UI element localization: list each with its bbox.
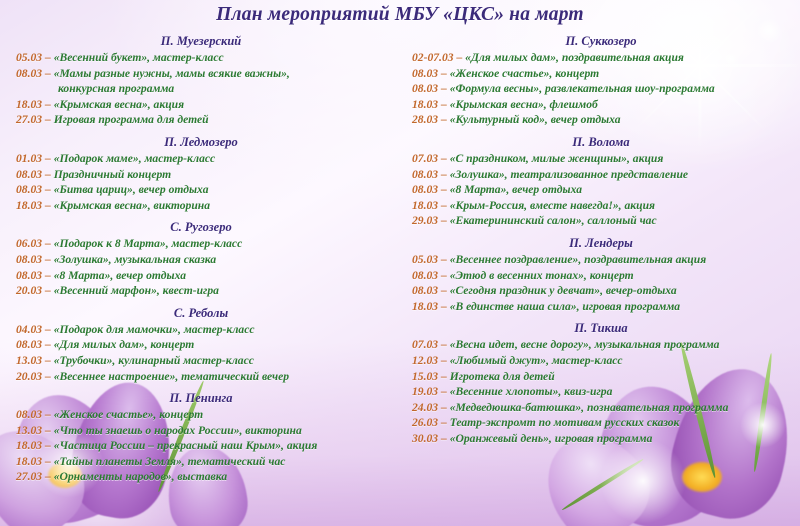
event-description: «Золушка», музыкальная сказка (54, 253, 216, 266)
event-description: «Весенний букет», мастер-класс (54, 51, 224, 64)
event-description: «Женское счастье», концерт (450, 67, 599, 80)
event-date: 20.03 (16, 370, 42, 383)
event-description: «Весенние хлопоты», квиз-игра (450, 385, 613, 398)
event-row: 05.03 – «Весенний букет», мастер-класс (6, 50, 396, 66)
event-row: 19.03 – «Весенние хлопоты», квиз-игра (406, 384, 796, 400)
event-date: 08.03 (412, 82, 438, 95)
event-date: 27.03 (16, 470, 42, 483)
event-date: 08.03 (16, 67, 42, 80)
event-date: 27.03 (16, 113, 42, 126)
event-row: 18.03 – «Тайны планеты Земля», тематичес… (6, 454, 396, 470)
venue-heading: П. Лендеры (406, 236, 796, 251)
event-date: 18.03 (16, 439, 42, 452)
venue-block: С. Реболы04.03 – «Подарок для мамочки», … (6, 306, 396, 384)
venue-block: П. Лендеры05.03 – «Весеннее поздравление… (406, 236, 796, 314)
page-title: План мероприятий МБУ «ЦКС» на март (0, 4, 800, 26)
event-dash: – (42, 98, 54, 111)
venue-block: П. Ледмозеро01.03 – «Подарок маме», маст… (6, 135, 396, 213)
schedule-columns: П. Муезерский05.03 – «Весенний букет», м… (0, 34, 800, 492)
event-date: 19.03 (412, 385, 438, 398)
event-dash: – (438, 370, 450, 383)
left-column: П. Муезерский05.03 – «Весенний букет», м… (0, 34, 400, 492)
event-description: «Весеннее настроение», тематический вече… (54, 370, 289, 383)
event-date: 06.03 (16, 237, 42, 250)
event-dash: – (438, 338, 450, 351)
event-row: 07.03 – «Весна идет, весне дорогу», музы… (406, 337, 796, 353)
event-description: «Подарок к 8 Марта», мастер-класс (54, 237, 243, 250)
event-date: 01.03 (16, 152, 42, 165)
right-column: П. Суккозеро02-07.03 – «Для милых дам», … (400, 34, 800, 453)
event-row: 08.03 – «Женское счастье», концерт (6, 407, 396, 423)
event-dash: – (454, 51, 466, 64)
event-date: 08.03 (412, 168, 438, 181)
event-description: Праздничный концерт (54, 168, 171, 181)
event-dash: – (42, 439, 54, 452)
event-description: «Для милых дам», поздравительная акция (465, 51, 684, 64)
event-date: 08.03 (16, 338, 42, 351)
event-dash: – (42, 408, 54, 421)
event-row: 08.03 – «Сегодня праздник у девчат», веч… (406, 283, 796, 299)
event-row: 08.03 – Праздничный концерт (6, 167, 396, 183)
event-description: Театр-экспромт по мотивам русских сказок (450, 416, 680, 429)
event-date: 05.03 (16, 51, 42, 64)
event-dash: – (438, 269, 450, 282)
event-row: 08.03 – «Золушка», музыкальная сказка (6, 252, 396, 268)
event-dash: – (42, 370, 54, 383)
event-date: 07.03 (412, 152, 438, 165)
event-dash: – (438, 300, 450, 313)
event-date: 13.03 (16, 424, 42, 437)
event-date: 04.03 (16, 323, 42, 336)
event-description: «Битва цариц», вечер отдыха (54, 183, 209, 196)
event-dash: – (438, 183, 450, 196)
event-description: «Любимый джут», мастер-класс (450, 354, 623, 367)
venue-heading: П. Суккозеро (406, 34, 796, 49)
event-date: 08.03 (16, 269, 42, 282)
event-row: 12.03 – «Любимый джут», мастер-класс (406, 353, 796, 369)
event-date: 13.03 (16, 354, 42, 367)
event-dash: – (438, 284, 450, 297)
event-description: «Что ты знаешь о народах России», виктор… (54, 424, 302, 437)
event-date: 15.03 (412, 370, 438, 383)
event-date: 08.03 (16, 168, 42, 181)
event-dash: – (42, 354, 54, 367)
event-description: «8 Марта», вечер отдыха (450, 183, 582, 196)
event-description: «Орнаменты народов», выставка (54, 470, 227, 483)
event-description: «Мамы разные нужны, мамы всякие важны», (54, 67, 290, 80)
event-row: 08.03 – «8 Марта», вечер отдыха (6, 268, 396, 284)
event-description: «Весеннее поздравление», поздравительная… (450, 253, 706, 266)
event-dash: – (42, 168, 54, 181)
event-dash: – (438, 385, 450, 398)
event-row: 02-07.03 – «Для милых дам», поздравитель… (406, 50, 796, 66)
event-description: «Крым-Россия, вместе навегда!», акция (450, 199, 655, 212)
venue-block: П. Тикша07.03 – «Весна идет, весне дорог… (406, 321, 796, 446)
event-description: «Трубочки», кулинарный мастер-класс (54, 354, 254, 367)
event-dash: – (42, 455, 54, 468)
event-row: 27.03 – «Орнаменты народов», выставка (6, 469, 396, 485)
event-dash: – (438, 82, 450, 95)
event-row: 29.03 – «Екатерининский салон», саллоный… (406, 213, 796, 229)
venue-heading: П. Муезерский (6, 34, 396, 49)
event-row: 08.03 – «Мамы разные нужны, мамы всякие … (6, 66, 396, 97)
event-dash: – (42, 338, 54, 351)
event-description: «Формула весны», развлекательная шоу-про… (450, 82, 715, 95)
venue-block: С. Ругозеро06.03 – «Подарок к 8 Марта», … (6, 220, 396, 298)
event-row: 08.03 – «Золушка», театрализованное пред… (406, 167, 796, 183)
event-description: «Медведюшка-батюшка», познавательная про… (450, 401, 729, 414)
event-row: 18.03 – «Крымская весна», флешмоб (406, 97, 796, 113)
event-description: Игровая программа для детей (54, 113, 209, 126)
event-date: 05.03 (412, 253, 438, 266)
event-description: «Культурный код», вечер отдыха (450, 113, 621, 126)
event-description-continued: конкурсная программа (16, 81, 396, 97)
event-dash: – (438, 354, 450, 367)
event-dash: – (438, 416, 450, 429)
event-row: 26.03 – Театр-экспромт по мотивам русски… (406, 415, 796, 431)
event-date: 08.03 (412, 67, 438, 80)
event-dash: – (438, 67, 450, 80)
event-row: 13.03 – «Что ты знаешь о народах России»… (6, 423, 396, 439)
event-dash: – (42, 323, 54, 336)
event-row: 15.03 – Игротека для детей (406, 369, 796, 385)
event-date: 08.03 (16, 183, 42, 196)
event-row: 18.03 – «Крымская весна», викторина (6, 198, 396, 214)
event-date: 08.03 (16, 253, 42, 266)
event-description: «Крымская весна», флешмоб (450, 98, 598, 111)
event-dash: – (42, 183, 54, 196)
venue-heading: С. Реболы (6, 306, 396, 321)
event-row: 04.03 – «Подарок для мамочки», мастер-кл… (6, 322, 396, 338)
event-description: «Для милых дам», концерт (54, 338, 195, 351)
event-description: «Частица России – прекрасный наш Крым», … (54, 439, 318, 452)
event-dash: – (42, 424, 54, 437)
event-date: 28.03 (412, 113, 438, 126)
event-row: 28.03 – «Культурный код», вечер отдыха (406, 112, 796, 128)
event-dash: – (42, 253, 54, 266)
event-description: «Этюд в весенних тонах», концерт (450, 269, 634, 282)
event-row: 08.03 – «Формула весны», развлекательная… (406, 81, 796, 97)
event-date: 08.03 (412, 269, 438, 282)
event-dash: – (42, 152, 54, 165)
event-dash: – (438, 98, 450, 111)
event-dash: – (42, 284, 54, 297)
event-description: «Екатерининский салон», саллоный час (450, 214, 657, 227)
event-row: 18.03 – «Крымская весна», акция (6, 97, 396, 113)
event-date: 07.03 (412, 338, 438, 351)
event-row: 08.03 – «Этюд в весенних тонах», концерт (406, 268, 796, 284)
event-dash: – (438, 168, 450, 181)
event-row: 06.03 – «Подарок к 8 Марта», мастер-клас… (6, 236, 396, 252)
event-row: 05.03 – «Весеннее поздравление», поздрав… (406, 252, 796, 268)
event-row: 20.03 – «Весеннее настроение», тематичес… (6, 369, 396, 385)
venue-block: П. Пенинга08.03 – «Женское счастье», кон… (6, 391, 396, 485)
event-dash: – (42, 113, 54, 126)
event-dash: – (438, 214, 450, 227)
poster-canvas: План мероприятий МБУ «ЦКС» на март П. Му… (0, 0, 800, 526)
event-row: 08.03 – «8 Марта», вечер отдыха (406, 182, 796, 198)
event-dash: – (42, 470, 54, 483)
event-row: 13.03 – «Трубочки», кулинарный мастер-кл… (6, 353, 396, 369)
event-date: 08.03 (16, 408, 42, 421)
venue-block: П. Муезерский05.03 – «Весенний букет», м… (6, 34, 396, 128)
event-description: «Сегодня праздник у девчат», вечер-отдых… (450, 284, 677, 297)
event-row: 01.03 – «Подарок маме», мастер-класс (6, 151, 396, 167)
event-description: «В единстве наша сила», игровая программ… (450, 300, 680, 313)
event-row: 08.03 – «Женское счастье», концерт (406, 66, 796, 82)
event-date: 08.03 (412, 183, 438, 196)
venue-heading: П. Пенинга (6, 391, 396, 406)
event-description: «Весенний марфон», квест-игра (54, 284, 219, 297)
event-row: 30.03 – «Оранжевый день», игровая програ… (406, 431, 796, 447)
event-date: 20.03 (16, 284, 42, 297)
event-date: 18.03 (412, 300, 438, 313)
event-row: 27.03 – Игровая программа для детей (6, 112, 396, 128)
event-row: 20.03 – «Весенний марфон», квест-игра (6, 283, 396, 299)
event-date: 18.03 (16, 199, 42, 212)
event-date: 02-07.03 (412, 51, 454, 64)
event-date: 18.03 (412, 199, 438, 212)
event-dash: – (438, 253, 450, 266)
event-description: «Оранжевый день», игровая программа (450, 432, 653, 445)
venue-block: П. Суккозеро02-07.03 – «Для милых дам», … (406, 34, 796, 128)
event-date: 30.03 (412, 432, 438, 445)
venue-heading: С. Ругозеро (6, 220, 396, 235)
venue-block: П. Волома07.03 – «С праздником, милые же… (406, 135, 796, 229)
event-description: «Женское счастье», концерт (54, 408, 203, 421)
event-dash: – (438, 113, 450, 126)
event-date: 26.03 (412, 416, 438, 429)
event-dash: – (42, 237, 54, 250)
event-description: «С праздником, милые женщины», акция (450, 152, 664, 165)
event-description: Игротека для детей (450, 370, 555, 383)
event-row: 18.03 – «Частица России – прекрасный наш… (6, 438, 396, 454)
event-dash: – (438, 401, 450, 414)
event-row: 07.03 – «С праздником, милые женщины», а… (406, 151, 796, 167)
event-description: «Подарок маме», мастер-класс (54, 152, 216, 165)
event-row: 08.03 – «Для милых дам», концерт (6, 337, 396, 353)
event-date: 18.03 (16, 455, 42, 468)
event-description: «Подарок для мамочки», мастер-класс (54, 323, 255, 336)
event-description: «Весна идет, весне дорогу», музыкальная … (450, 338, 720, 351)
event-description: «Золушка», театрализованное представлени… (450, 168, 688, 181)
event-row: 24.03 – «Медведюшка-батюшка», познавател… (406, 400, 796, 416)
event-date: 12.03 (412, 354, 438, 367)
event-dash: – (438, 199, 450, 212)
event-dash: – (42, 67, 54, 80)
event-date: 18.03 (412, 98, 438, 111)
event-row: 18.03 – «Крым-Россия, вместе навегда!», … (406, 198, 796, 214)
event-row: 08.03 – «Битва цариц», вечер отдыха (6, 182, 396, 198)
event-row: 18.03 – «В единстве наша сила», игровая … (406, 299, 796, 315)
event-description: «Крымская весна», викторина (54, 199, 210, 212)
event-dash: – (42, 51, 54, 64)
event-date: 29.03 (412, 214, 438, 227)
event-dash: – (42, 199, 54, 212)
event-date: 24.03 (412, 401, 438, 414)
venue-heading: П. Тикша (406, 321, 796, 336)
venue-heading: П. Ледмозеро (6, 135, 396, 150)
event-dash: – (42, 269, 54, 282)
event-date: 08.03 (412, 284, 438, 297)
event-dash: – (438, 152, 450, 165)
venue-heading: П. Волома (406, 135, 796, 150)
event-description: «Тайны планеты Земля», тематический час (54, 455, 286, 468)
event-dash: – (438, 432, 450, 445)
event-description: «8 Марта», вечер отдыха (54, 269, 186, 282)
event-date: 18.03 (16, 98, 42, 111)
event-description: «Крымская весна», акция (54, 98, 184, 111)
